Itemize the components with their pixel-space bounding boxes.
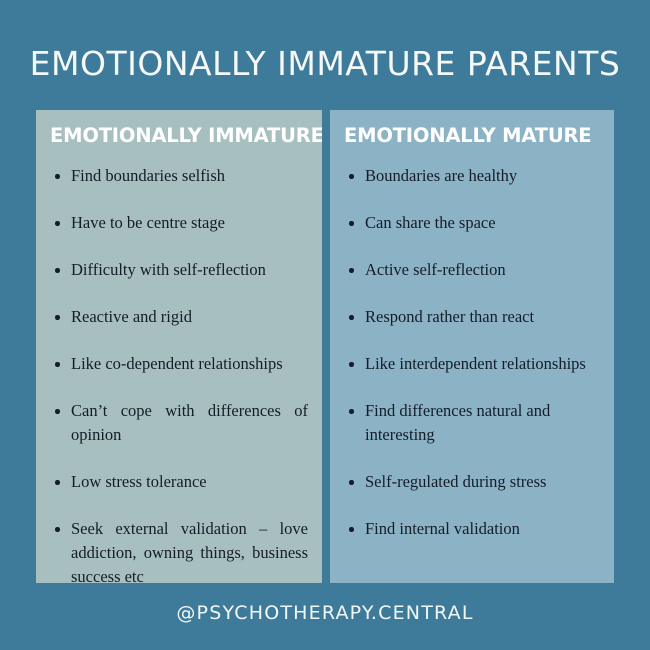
column-emotionally-mature: EMOTIONALLY MATURE Boundaries are health… [330,110,614,583]
comparison-columns: EMOTIONALLY IMMATURE Find boundaries sel… [36,110,614,583]
list-item: Boundaries are healthy [344,164,600,188]
list-item: Can’t cope with differences of opinion [50,399,308,447]
list-item: Low stress tolerance [50,470,308,494]
list-item: Reactive and rigid [50,305,308,329]
list-item: Like interdependent relationships [344,352,600,376]
list-item: Find internal validation [344,517,600,541]
account-handle: @PSYCHOTHERAPY.CENTRAL [0,600,650,626]
list-item: Have to be centre stage [50,211,308,235]
list-item: Seek external validation – love addictio… [50,517,308,583]
list-item: Difficulty with self-reflection [50,258,308,282]
mature-traits-list: Boundaries are healthy Can share the spa… [344,164,600,541]
immature-traits-list: Find boundaries selfish Have to be centr… [50,164,308,583]
list-item: Find boundaries selfish [50,164,308,188]
list-item: Active self-reflection [344,258,600,282]
poster-canvas: EMOTIONALLY IMMATURE PARENTS EMOTIONALLY… [0,0,650,650]
column-header-mature: EMOTIONALLY MATURE [344,124,600,148]
page-title: EMOTIONALLY IMMATURE PARENTS [0,44,650,84]
list-item: Find differences natural and interesting [344,399,600,447]
list-item: Self-regulated during stress [344,470,600,494]
list-item: Respond rather than react [344,305,600,329]
list-item: Like co-dependent relationships [50,352,308,376]
column-emotionally-immature: EMOTIONALLY IMMATURE Find boundaries sel… [36,110,322,583]
list-item: Can share the space [344,211,600,235]
column-header-immature: EMOTIONALLY IMMATURE [50,124,308,148]
